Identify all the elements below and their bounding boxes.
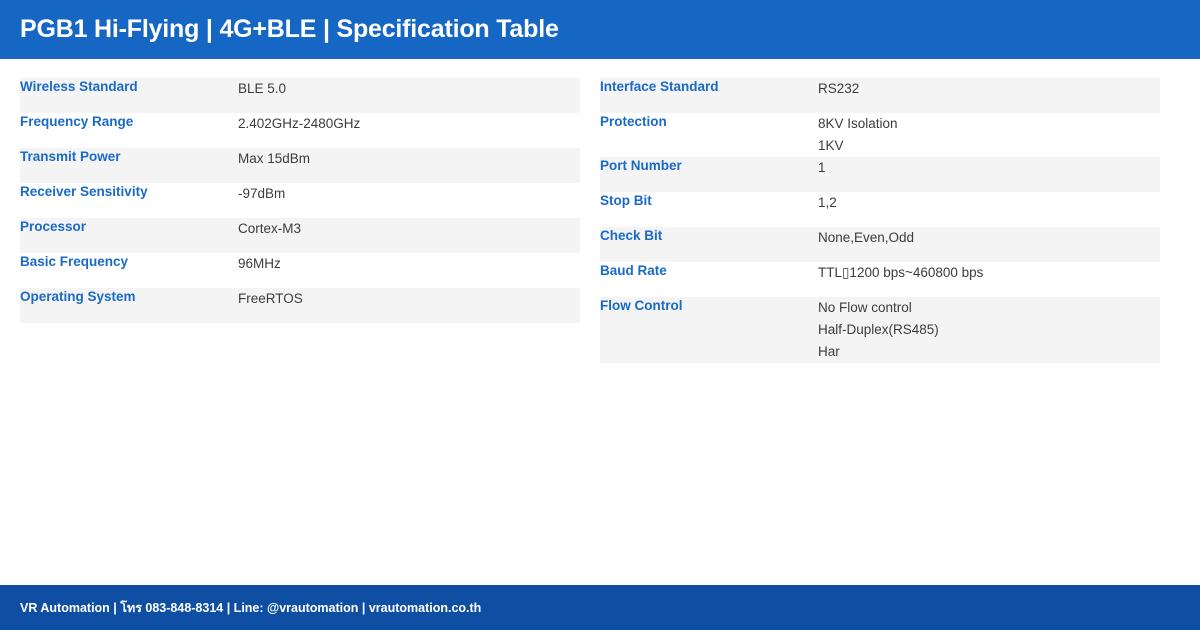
left-spec-table-wrapper: Wireless Standard BLE 5.0 Frequency Rang…: [20, 78, 580, 323]
spec-label: Processor: [20, 218, 238, 253]
spec-label: Check Bit: [600, 227, 818, 262]
spec-label: Flow Control: [600, 297, 818, 363]
spec-label: Receiver Sensitivity: [20, 183, 238, 218]
spec-value: No Flow control Half-Duplex(RS485) Har: [818, 297, 1160, 363]
spec-value: 2.402GHz-2480GHz: [238, 113, 580, 148]
right-spec-table: Interface Standard RS232 Protection 8KV …: [600, 78, 1160, 363]
specification-tables: Wireless Standard BLE 5.0 Frequency Rang…: [0, 59, 1200, 585]
table-row: Wireless Standard BLE 5.0: [20, 78, 580, 113]
spec-value: 1: [818, 157, 1160, 192]
footer-contact-text: VR Automation | โทร 083-848-8314 | Line:…: [0, 598, 481, 618]
page-header-bar: PGB1 Hi-Flying | 4G+BLE | Specification …: [0, 0, 1200, 59]
table-row: Stop Bit 1,2: [600, 192, 1160, 227]
spec-label: Interface Standard: [600, 78, 818, 113]
table-row: Baud Rate TTL▯1200 bps~460800 bps: [600, 262, 1160, 297]
table-row: Protection 8KV Isolation 1KV: [600, 113, 1160, 157]
right-spec-table-wrapper: Interface Standard RS232 Protection 8KV …: [600, 78, 1160, 363]
table-row: Processor Cortex-M3: [20, 218, 580, 253]
table-row: Basic Frequency 96MHz: [20, 253, 580, 288]
page-footer-bar: VR Automation | โทร 083-848-8314 | Line:…: [0, 585, 1200, 630]
spec-label: Stop Bit: [600, 192, 818, 227]
spec-label: Port Number: [600, 157, 818, 192]
spec-value: 96MHz: [238, 253, 580, 288]
spec-value: Max 15dBm: [238, 148, 580, 183]
spec-label: Transmit Power: [20, 148, 238, 183]
spec-label: Protection: [600, 113, 818, 157]
right-spec-table-body: Interface Standard RS232 Protection 8KV …: [600, 78, 1160, 363]
table-row: Check Bit None,Even,Odd: [600, 227, 1160, 262]
spec-value: FreeRTOS: [238, 288, 580, 323]
spec-label: Baud Rate: [600, 262, 818, 297]
left-spec-table: Wireless Standard BLE 5.0 Frequency Rang…: [20, 78, 580, 323]
table-row: Receiver Sensitivity -97dBm: [20, 183, 580, 218]
spec-value: RS232: [818, 78, 1160, 113]
spec-label: Operating System: [20, 288, 238, 323]
spec-label: Wireless Standard: [20, 78, 238, 113]
table-row: Interface Standard RS232: [600, 78, 1160, 113]
spec-value: 8KV Isolation 1KV: [818, 113, 1160, 157]
spec-label: Basic Frequency: [20, 253, 238, 288]
spec-value: -97dBm: [238, 183, 580, 218]
table-row: Port Number 1: [600, 157, 1160, 192]
table-row: Flow Control No Flow control Half-Duplex…: [600, 297, 1160, 363]
spec-label: Frequency Range: [20, 113, 238, 148]
spec-value: 1,2: [818, 192, 1160, 227]
spec-value: TTL▯1200 bps~460800 bps: [818, 262, 1160, 297]
spec-value: BLE 5.0: [238, 78, 580, 113]
page-title: PGB1 Hi-Flying | 4G+BLE | Specification …: [0, 15, 559, 44]
left-spec-table-body: Wireless Standard BLE 5.0 Frequency Rang…: [20, 78, 580, 323]
spec-value: Cortex-M3: [238, 218, 580, 253]
table-row: Frequency Range 2.402GHz-2480GHz: [20, 113, 580, 148]
table-row: Transmit Power Max 15dBm: [20, 148, 580, 183]
spec-value: None,Even,Odd: [818, 227, 1160, 262]
table-row: Operating System FreeRTOS: [20, 288, 580, 323]
